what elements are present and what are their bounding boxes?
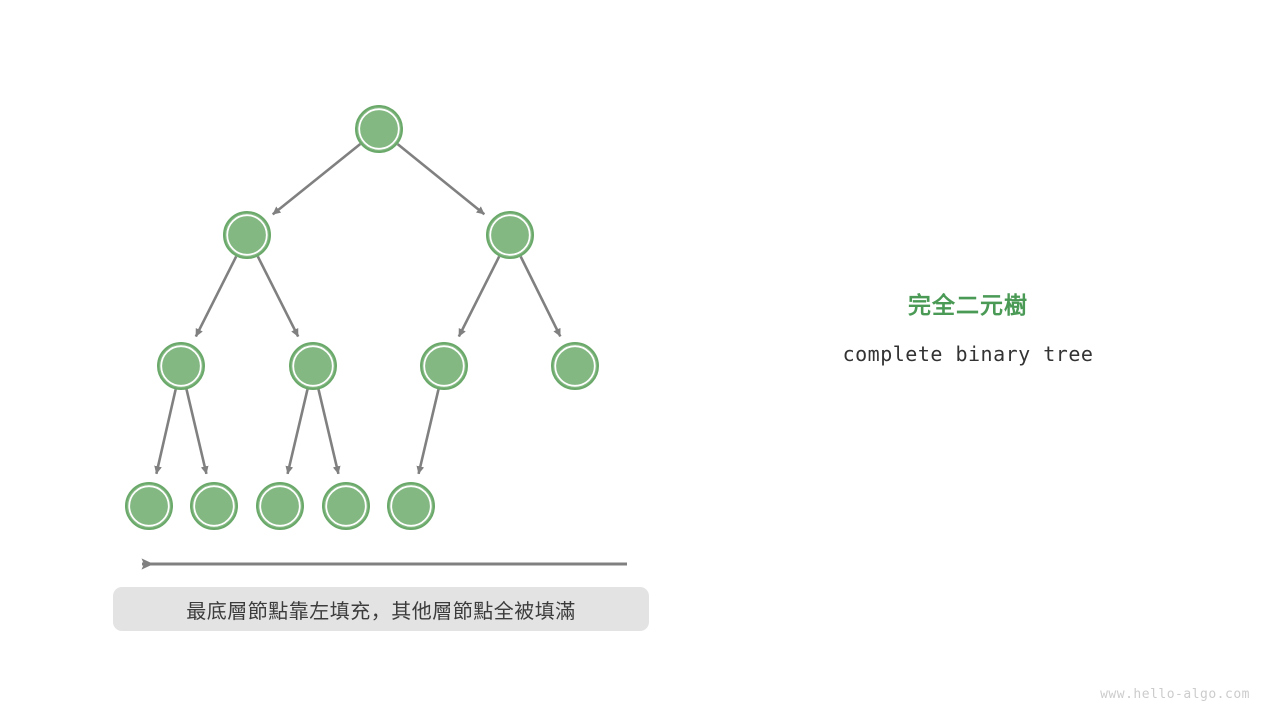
watermark: www.hello-algo.com (1100, 687, 1250, 702)
tree-node[interactable] (158, 343, 204, 389)
tree-edge (319, 389, 339, 474)
tree-edge (258, 256, 298, 336)
caption-text: 最底層節點靠左填充，其他層節點全被填滿 (186, 595, 576, 624)
tree-node[interactable] (421, 343, 467, 389)
tree-edge (398, 144, 485, 214)
tree-node-inner-ring (161, 346, 201, 386)
tree-node[interactable] (290, 343, 336, 389)
tree-node-inner-ring (555, 346, 595, 386)
legend-subtitle: complete binary tree (768, 342, 1168, 366)
tree-node[interactable] (257, 483, 303, 529)
tree-node-inner-ring (129, 486, 169, 526)
tree-node[interactable] (487, 212, 533, 258)
tree-node[interactable] (191, 483, 237, 529)
tree-node-inner-ring (260, 486, 300, 526)
tree-edge (419, 389, 439, 474)
caption-box: 最底層節點靠左填充，其他層節點全被填滿 (113, 587, 649, 631)
tree-node-inner-ring (424, 346, 464, 386)
tree-node-inner-ring (391, 486, 431, 526)
legend-title: 完全二元樹 (768, 292, 1168, 320)
tree-edge (288, 389, 308, 474)
tree-node[interactable] (552, 343, 598, 389)
tree-edge (459, 256, 499, 336)
tree-edge (156, 389, 175, 473)
tree-edge-layer (156, 144, 560, 474)
tree-node[interactable] (126, 483, 172, 529)
tree-node[interactable] (388, 483, 434, 529)
tree-node[interactable] (356, 106, 402, 152)
tree-node-inner-ring (490, 215, 530, 255)
tree-node-inner-ring (227, 215, 267, 255)
tree-node[interactable] (224, 212, 270, 258)
tree-node-inner-ring (194, 486, 234, 526)
tree-edge (187, 389, 207, 474)
tree-node-inner-ring (326, 486, 366, 526)
tree-edge (196, 256, 236, 336)
tree-node[interactable] (323, 483, 369, 529)
tree-node-layer (126, 106, 598, 529)
tree-node-inner-ring (359, 109, 399, 149)
legend-block: 完全二元樹 complete binary tree (768, 292, 1168, 366)
tree-edge (273, 144, 361, 214)
tree-node-inner-ring (293, 346, 333, 386)
tree-edge (521, 256, 561, 336)
